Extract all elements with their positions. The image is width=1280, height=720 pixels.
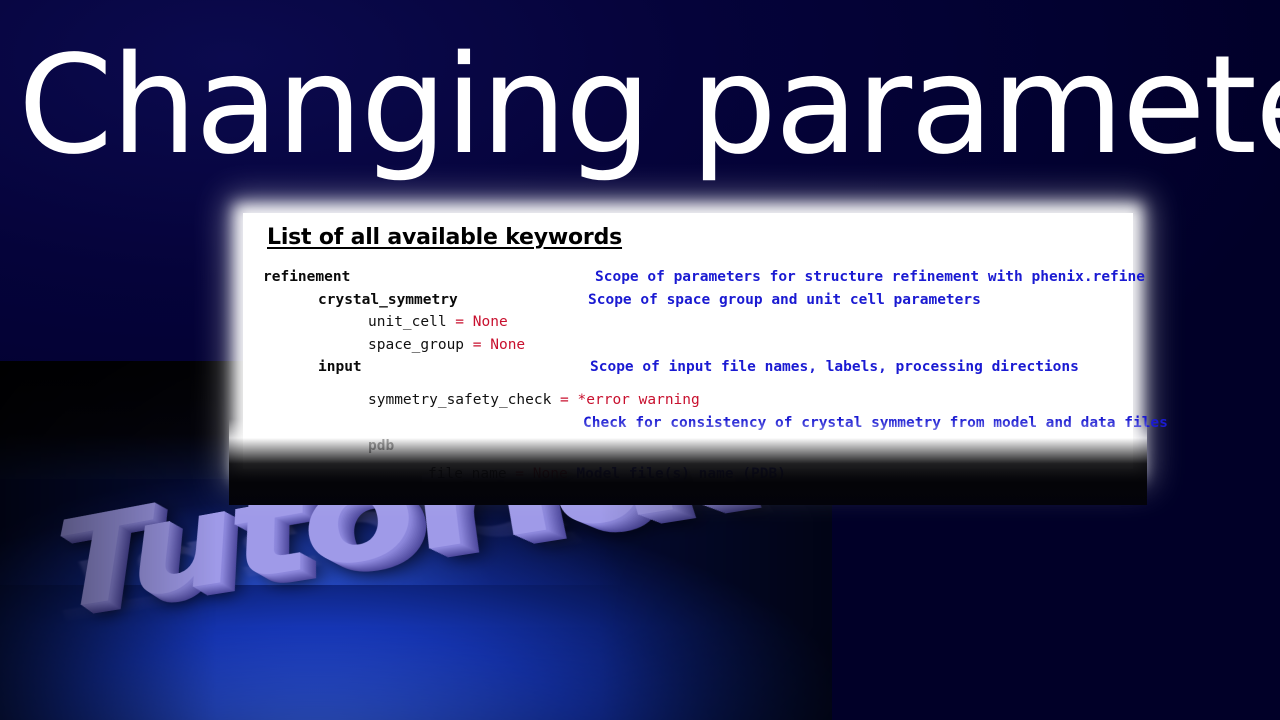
keyword-panel: List of all available keywords refinemen… — [243, 213, 1133, 469]
keyword-value: None — [473, 314, 508, 330]
keyword-row: space_group = None — [243, 334, 1133, 357]
keyword-row-left: unit_cell = None — [368, 311, 508, 334]
page-title: Changing parameters — [18, 26, 1268, 186]
keyword-row: symmetry_safety_check = *error warning — [243, 389, 1133, 412]
keyword-description: Model file(s) name (PDB) — [568, 466, 786, 482]
keyword-row: refinementScope of parameters for struct… — [243, 266, 1133, 289]
keyword-name: space_group — [368, 337, 464, 353]
keyword-row-left: input — [318, 356, 362, 379]
keyword-equals: = — [464, 337, 490, 353]
keyword-description: Scope of space group and unit cell param… — [588, 289, 981, 312]
keyword-row-left: crystal_symmetry — [318, 289, 458, 312]
keyword-name: unit_cell — [368, 314, 447, 330]
keyword-row-left: pdb — [368, 435, 394, 458]
keyword-equals: = — [507, 466, 533, 482]
keyword-name: symmetry_safety_check — [368, 392, 551, 408]
keyword-list: refinementScope of parameters for struct… — [243, 266, 1133, 457]
keyword-equals: = — [447, 314, 473, 330]
keyword-description: Check for consistency of crystal symmetr… — [583, 412, 1168, 435]
keyword-row-left: refinement — [263, 266, 350, 289]
keyword-name: pdb — [368, 438, 394, 454]
keyword-row: Check for consistency of crystal symmetr… — [243, 412, 1133, 435]
keyword-panel-content: List of all available keywords refinemen… — [243, 213, 1133, 469]
keyword-name: file_name — [428, 466, 507, 482]
keyword-row: unit_cell = None — [243, 311, 1133, 334]
keyword-description: Scope of parameters for structure refine… — [595, 266, 1145, 289]
keyword-name: input — [318, 359, 362, 375]
keyword-row-left: symmetry_safety_check = *error warning — [368, 389, 700, 412]
keyword-row: inputScope of input file names, labels, … — [243, 356, 1133, 389]
keyword-row-tail: file_name = None Model file(s) name (PDB… — [428, 463, 786, 486]
keyword-row: crystal_symmetryScope of space group and… — [243, 289, 1133, 312]
keyword-name: crystal_symmetry — [318, 292, 458, 308]
keyword-row: pdb — [243, 435, 1133, 458]
keyword-value: *error warning — [578, 392, 700, 408]
slide-root: Changing parameters Tutorial Tutorial Li… — [0, 0, 1280, 720]
keyword-value: None — [533, 466, 568, 482]
keyword-name: refinement — [263, 269, 350, 285]
keyword-value: None — [490, 337, 525, 353]
keyword-panel-heading: List of all available keywords — [267, 225, 1133, 250]
keyword-equals: = — [551, 392, 577, 408]
keyword-row-left: space_group = None — [368, 334, 525, 357]
keyword-description: Scope of input file names, labels, proce… — [590, 356, 1079, 379]
